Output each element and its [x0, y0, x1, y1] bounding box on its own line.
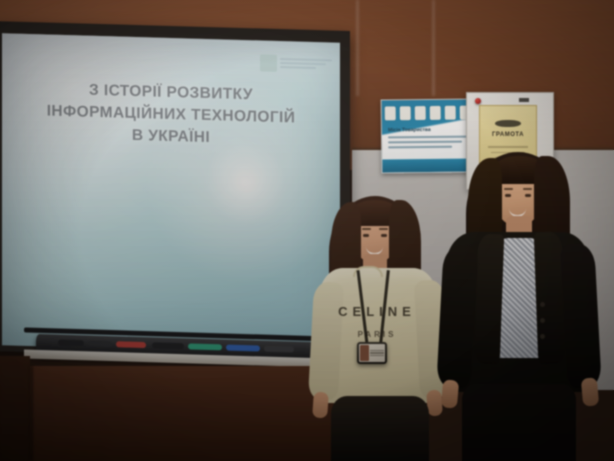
wall-seam [356, 0, 359, 96]
hand-right [581, 377, 599, 406]
eye [525, 194, 531, 197]
cardigan-button [540, 302, 545, 307]
marker-pen[interactable] [88, 340, 112, 347]
slide-watermark-logo [260, 52, 332, 74]
wall-seam [432, 0, 435, 96]
wood-panel-column [0, 356, 30, 461]
marker-pen[interactable] [264, 346, 294, 353]
poster-emblem-icon [445, 105, 456, 119]
projection-screen[interactable]: З ІСТОРІЇ РОЗВИТКУ ІНФОРМАЦІЙНИХ ТЕХНОЛО… [2, 33, 340, 354]
poster-emblem-icon [400, 106, 411, 120]
marker-pen[interactable] [58, 339, 84, 346]
poster-emblem-icon [430, 105, 441, 119]
marker-pen-green[interactable] [188, 343, 222, 350]
poster-title: Місія Товариства [388, 127, 431, 133]
screen-vignette [2, 33, 340, 354]
pushpin-icon [475, 98, 481, 104]
slide-title-line-3: В УКРАЇНІ [2, 121, 340, 152]
cardigan-button [540, 334, 545, 339]
eye [363, 234, 369, 237]
id-photo [360, 345, 369, 361]
poster-icon-row [385, 104, 471, 122]
eyebrow [504, 188, 513, 190]
id-badge [357, 342, 387, 364]
slide-title: З ІСТОРІЇ РОЗВИТКУ ІНФОРМАЦІЙНИХ ТЕХНОЛО… [2, 77, 340, 152]
poster-emblem-icon [385, 106, 396, 120]
marker-pen-red[interactable] [116, 341, 146, 348]
id-card [359, 344, 385, 362]
marker-pen-blue[interactable] [226, 344, 260, 351]
poster-emblem-icon [415, 106, 426, 120]
poster-body-text [388, 136, 468, 152]
eyebrow [379, 228, 388, 230]
cardigan-sleeve-right [560, 243, 601, 389]
photograph: З ІСТОРІЇ РОЗВИТКУ ІНФОРМАЦІЙНИХ ТЕХНОЛО… [0, 0, 614, 461]
sweater-brand-subtext: PARIS [327, 330, 427, 339]
cardigan-lapel-left [474, 234, 505, 365]
dark-trousers [462, 384, 576, 461]
hand-left [312, 392, 329, 419]
hand-left [441, 379, 459, 408]
logo-text-lines [280, 58, 332, 69]
board-clip [519, 98, 529, 102]
wood-panel-wall [0, 366, 352, 461]
logo-mark-icon [260, 54, 277, 71]
slide-title-line-1: З ІСТОРІЇ РОЗВИТКУ [2, 77, 340, 108]
eye [505, 194, 511, 197]
person-right [440, 152, 600, 461]
slide-title-line-2: ІНФОРМАЦІЙНИХ ТЕХНОЛОГІЙ [2, 99, 340, 130]
eyebrow [523, 188, 532, 190]
interactive-whiteboard[interactable]: З ІСТОРІЇ РОЗВИТКУ ІНФОРМАЦІЙНИХ ТЕХНОЛО… [0, 21, 350, 361]
sweater-brand-text: CELINE [327, 304, 427, 319]
dark-trousers [331, 396, 429, 461]
marker-pen[interactable] [152, 342, 184, 349]
cardigan-button [540, 318, 545, 323]
certificate-title: ГРАМОТА [480, 132, 536, 138]
eyebrow [362, 228, 371, 230]
eye [381, 234, 387, 237]
person-left: CELINE PARIS [305, 196, 455, 461]
wood-panel-divider [30, 366, 33, 461]
certificate-crest-icon [495, 120, 521, 127]
id-text-lines [370, 345, 384, 361]
sweater-sleeve-left [308, 281, 344, 400]
